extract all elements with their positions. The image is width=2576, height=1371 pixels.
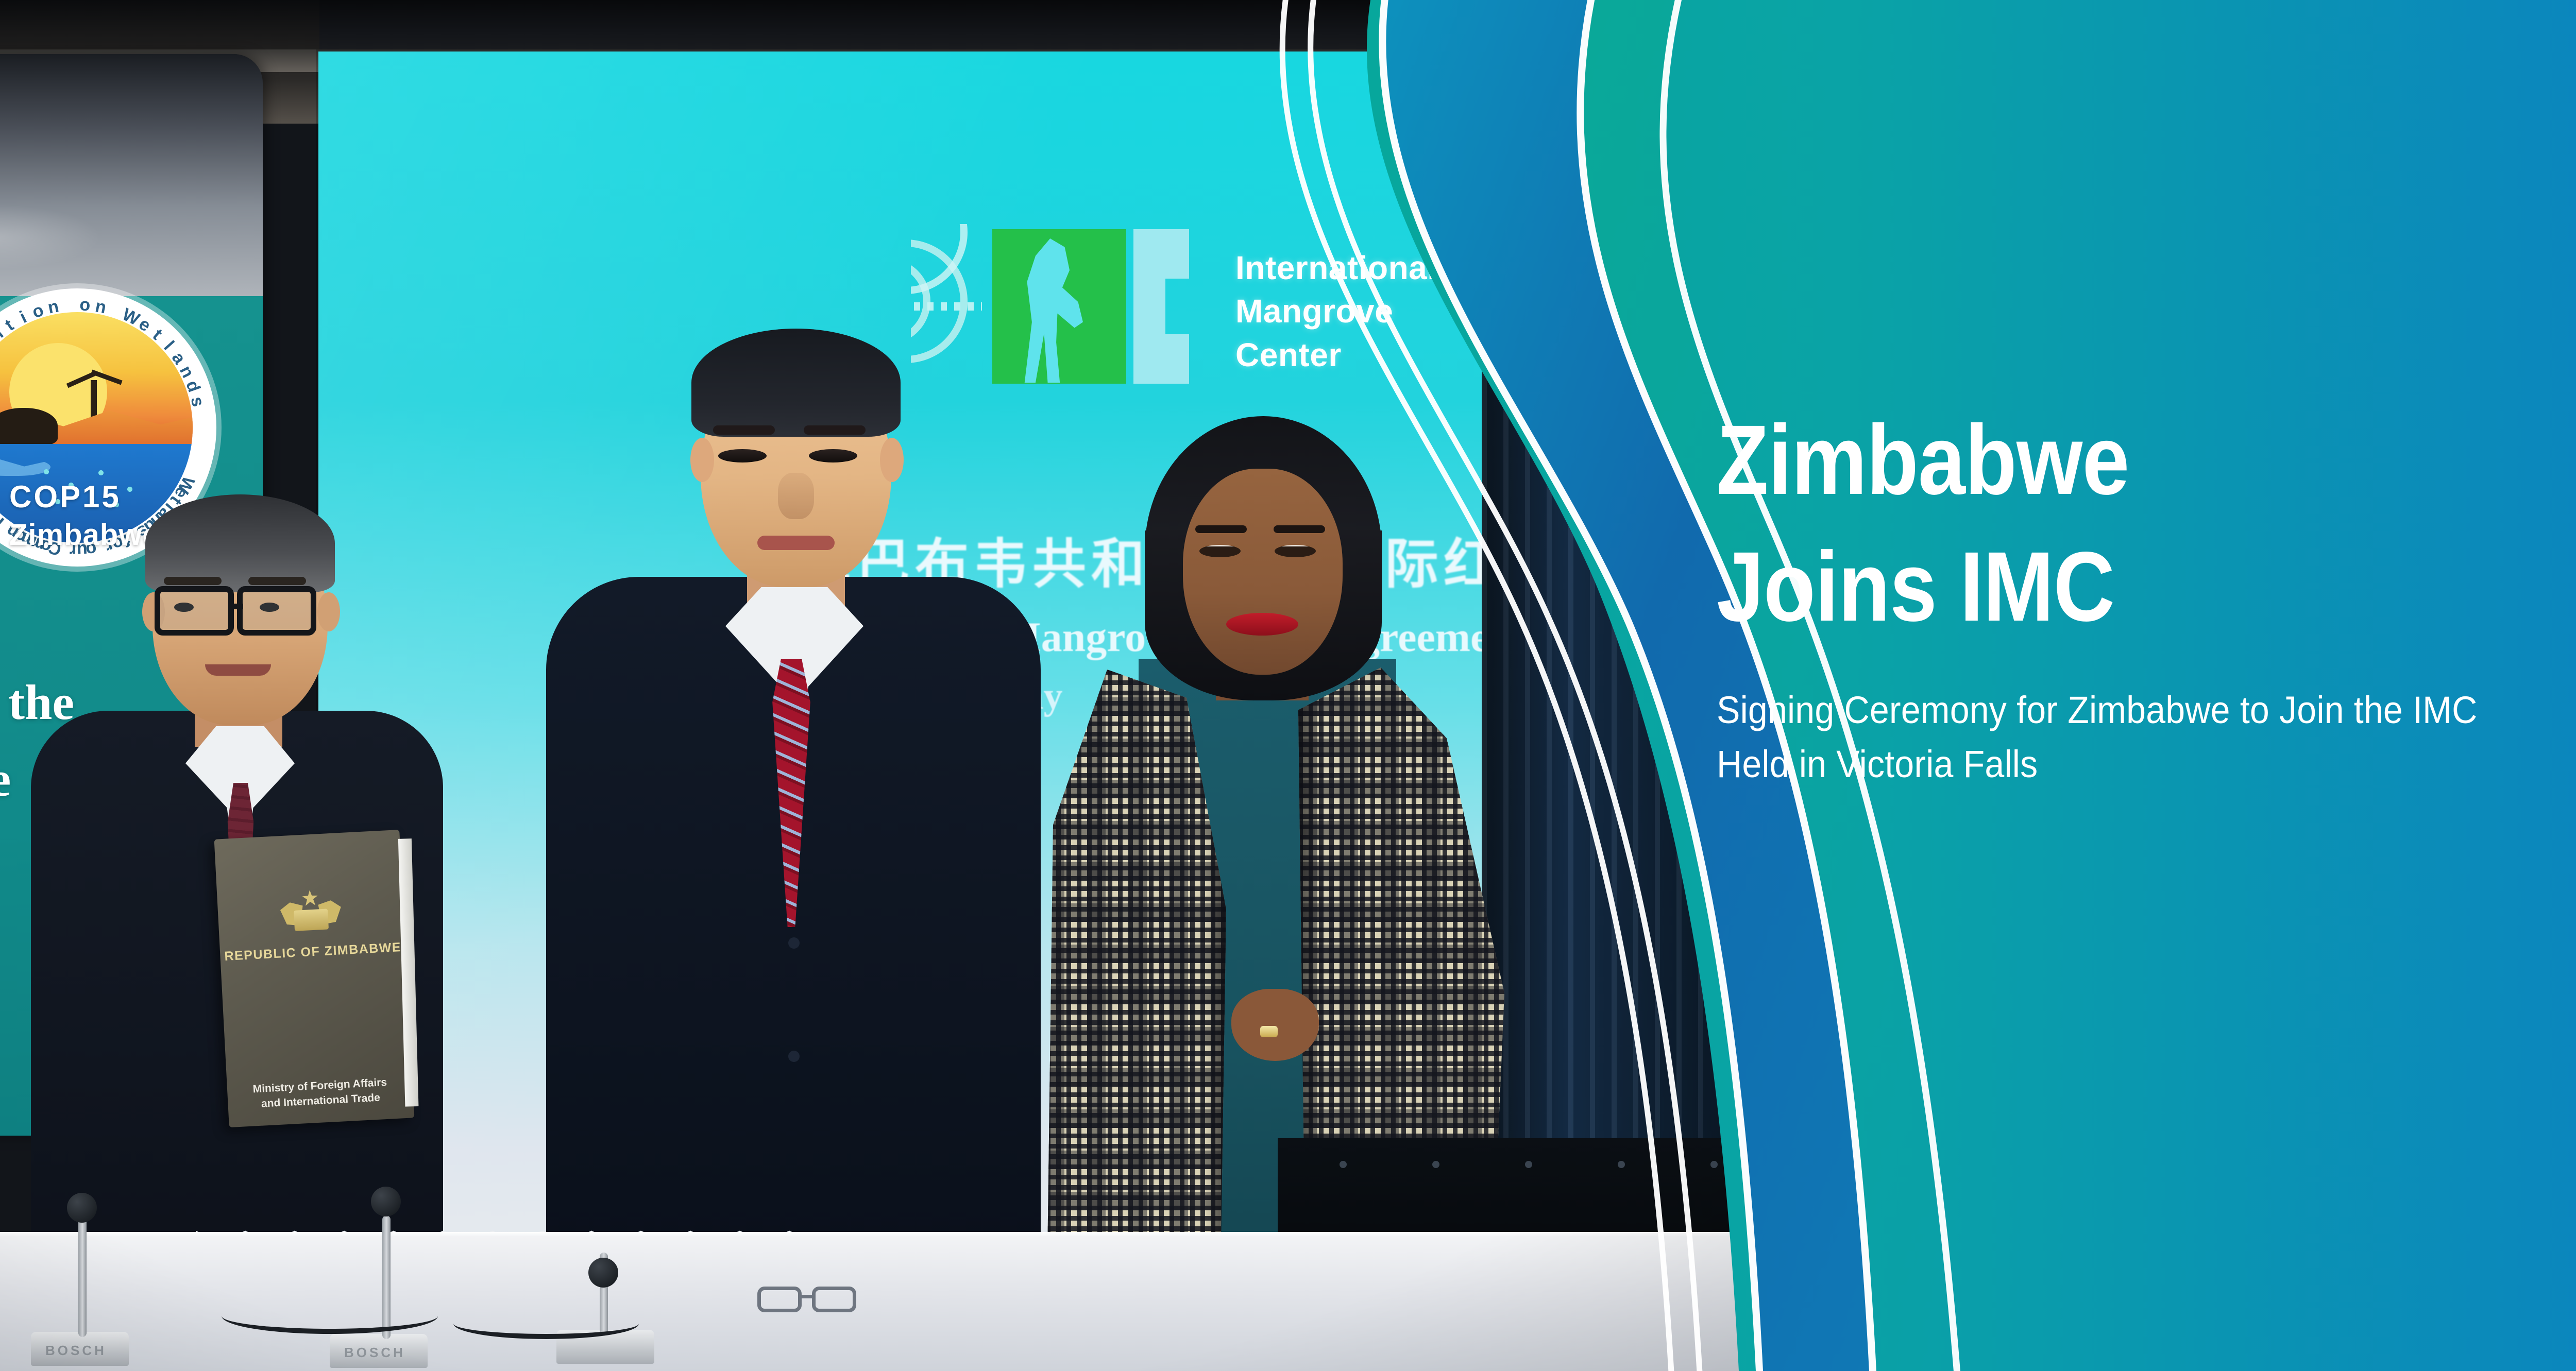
- official-right-eye-left: [1199, 545, 1241, 557]
- official-right-lips: [1226, 613, 1298, 636]
- headline-title: Zimbabwe Joins IMC: [1717, 397, 2443, 650]
- official-center-button-top: [788, 937, 800, 949]
- official-left-glasses-lens-left: [155, 586, 234, 636]
- microphone-left-head-icon: [67, 1193, 97, 1223]
- official-center-brow-right: [804, 425, 866, 435]
- official-center: [546, 268, 1041, 1371]
- signed-agreement-folder: REPUBLIC OF ZIMBABWE Ministry of Foreign…: [214, 830, 415, 1127]
- headline-title-line2: Joins IMC: [1717, 523, 2443, 650]
- official-left-ear-right: [317, 592, 340, 631]
- official-right-face: [1183, 469, 1343, 675]
- microphone-left-stem: [78, 1213, 87, 1337]
- microphone-center: BOSCH: [330, 1198, 443, 1368]
- eyeglasses-on-table: [757, 1282, 881, 1318]
- official-right-brow-left: [1195, 525, 1247, 533]
- microphone-left-base: BOSCH: [31, 1332, 129, 1366]
- official-center-nose: [778, 473, 814, 519]
- folder-ministry-text: Ministry of Foreign Affairs and Internat…: [227, 1074, 413, 1113]
- microphone-left: BOSCH: [31, 1201, 134, 1366]
- official-center-ear-right: [880, 438, 904, 482]
- official-center-eye-right: [809, 449, 857, 462]
- zimbabwe-coat-of-arms-icon: [279, 888, 342, 936]
- official-right-eye-right: [1275, 545, 1316, 557]
- official-center-eye-left: [718, 449, 767, 462]
- title-panel: Zimbabwe Joins IMC Signing Ceremony for …: [1185, 0, 2576, 1371]
- microphone-center-base: BOSCH: [330, 1334, 428, 1368]
- official-center-mouth: [757, 536, 835, 550]
- headline-title-line1: Zimbabwe: [1717, 397, 2443, 523]
- official-left-brow-left: [164, 577, 222, 585]
- microphone-cable-left: [222, 1298, 438, 1334]
- official-center-brow-left: [713, 425, 775, 435]
- microphone-right-head-icon: [588, 1258, 618, 1288]
- official-center-button-bottom: [788, 1051, 800, 1062]
- official-right-hand: [1231, 989, 1319, 1061]
- microphone-right: [556, 1240, 649, 1364]
- microphone-left-brand: BOSCH: [45, 1343, 107, 1359]
- official-center-hair: [691, 329, 901, 437]
- headline-block: Zimbabwe Joins IMC Signing Ceremony for …: [1717, 397, 2562, 791]
- banner-graphic: International Mangrove Center 津巴布韦共和国加入国…: [0, 0, 2576, 1371]
- banner-photo-area: [0, 54, 263, 301]
- microphone-center-head-icon: [371, 1187, 401, 1216]
- official-left-glasses-lens-right: [237, 586, 316, 636]
- microphone-cable-right: [453, 1308, 639, 1339]
- microphone-center-brand: BOSCH: [344, 1345, 405, 1361]
- official-right-brow-right: [1274, 525, 1325, 533]
- official-right-ring-icon: [1260, 1026, 1278, 1037]
- official-left-mouth: [205, 664, 271, 676]
- official-left-glasses-bridge: [233, 604, 243, 609]
- folder-country-text: REPUBLIC OF ZIMBABWE: [220, 940, 406, 965]
- headline-subtitle: Signing Ceremony for Zimbabwe to Join th…: [1717, 683, 2494, 791]
- official-center-ear-left: [690, 438, 714, 482]
- official-left-brow-right: [248, 577, 306, 585]
